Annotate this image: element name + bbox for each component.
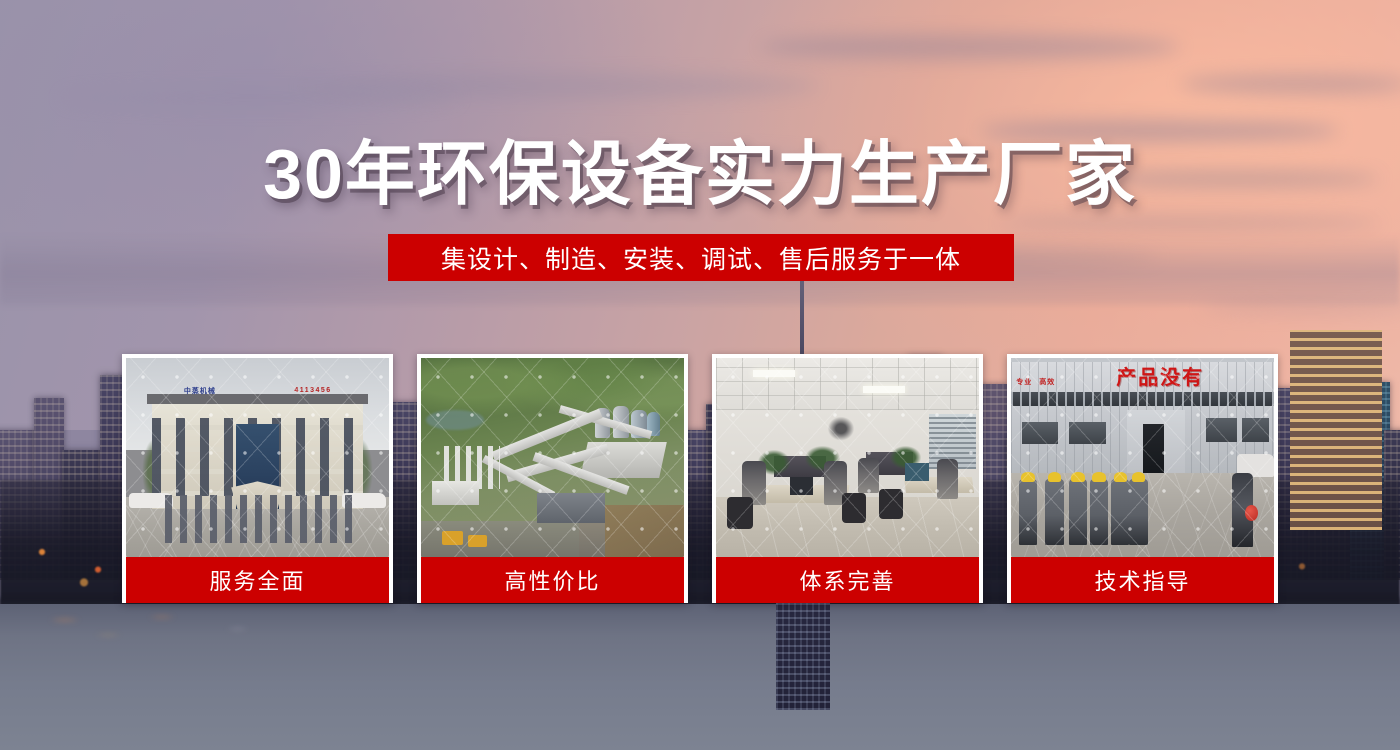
- feature-card[interactable]: 体系完善: [712, 354, 983, 603]
- hard-hat-icon: [1021, 472, 1034, 483]
- factory-worker: [1045, 479, 1063, 545]
- factory-slogan-1: 专业: [1016, 377, 1032, 387]
- water-reflections: [0, 608, 540, 668]
- office-chair: [842, 493, 866, 523]
- cloud-wisp: [1000, 215, 1380, 231]
- card-caption: 体系完善: [716, 557, 979, 603]
- factory-sign-text: 产品没有: [1116, 362, 1269, 390]
- subtitle-banner: 集设计、制造、安装、调试、售后服务于一体: [388, 234, 1014, 281]
- factory-worker: [1111, 479, 1129, 545]
- page-title: 30年环保设备实力生产厂家: [0, 137, 1400, 211]
- card-photo-factory-workers: 产品没有 专业 高效: [1011, 358, 1274, 557]
- office-chair: [727, 497, 753, 529]
- card-photo-aerial-plant: [421, 358, 684, 557]
- cloud-wisp: [1180, 74, 1400, 94]
- factory-slogan: 专业 高效: [1016, 370, 1111, 394]
- excavator: [442, 531, 463, 545]
- hard-hat-icon: [1114, 472, 1127, 483]
- card-caption: 服务全面: [126, 557, 389, 603]
- card-photo-office-building: 中蒸机械 4113456: [126, 358, 389, 557]
- factory-worker: [1069, 479, 1087, 545]
- desktop-monitor: [790, 477, 814, 495]
- factory-worker: [1129, 479, 1147, 545]
- feature-card[interactable]: 产品没有 专业 高效: [1007, 354, 1278, 603]
- building-sign-text: 中蒸机械: [184, 384, 294, 398]
- office-worker: [858, 458, 879, 494]
- factory-worker: [1090, 479, 1108, 545]
- hard-hat-icon: [1132, 472, 1145, 483]
- building-phone-text: 4113456: [294, 384, 383, 398]
- illuminated-building: [1290, 330, 1382, 530]
- factory-slogan-2: 高效: [1039, 377, 1055, 387]
- hard-hat-icon: [1092, 472, 1105, 483]
- card-photo-office-interior: [716, 358, 979, 557]
- hard-hat-icon: [1048, 472, 1061, 483]
- feature-card[interactable]: 高性价比: [417, 354, 688, 603]
- subtitle-text: 集设计、制造、安装、调试、售后服务于一体: [441, 240, 961, 276]
- office-worker: [937, 459, 958, 499]
- feature-card[interactable]: 中蒸机械 4113456 服务全面: [122, 354, 393, 603]
- promo-banner: 30年环保设备实力生产厂家 集设计、制造、安装、调试、售后服务于一体 中蒸机械 …: [0, 0, 1400, 750]
- feature-card-row: 中蒸机械 4113456 服务全面: [122, 354, 1278, 603]
- excavator: [468, 535, 486, 547]
- card-caption: 技术指导: [1011, 557, 1274, 603]
- card-caption: 高性价比: [421, 557, 684, 603]
- desktop-monitor: [905, 463, 929, 481]
- factory-worker: [1019, 479, 1037, 545]
- cloud-wisp: [60, 88, 460, 108]
- staff-lineup: [163, 495, 352, 543]
- office-chair: [879, 489, 903, 519]
- hard-hat-icon: [1071, 472, 1084, 483]
- cloud-wisp: [760, 34, 1180, 60]
- wall-emblem: [824, 416, 858, 444]
